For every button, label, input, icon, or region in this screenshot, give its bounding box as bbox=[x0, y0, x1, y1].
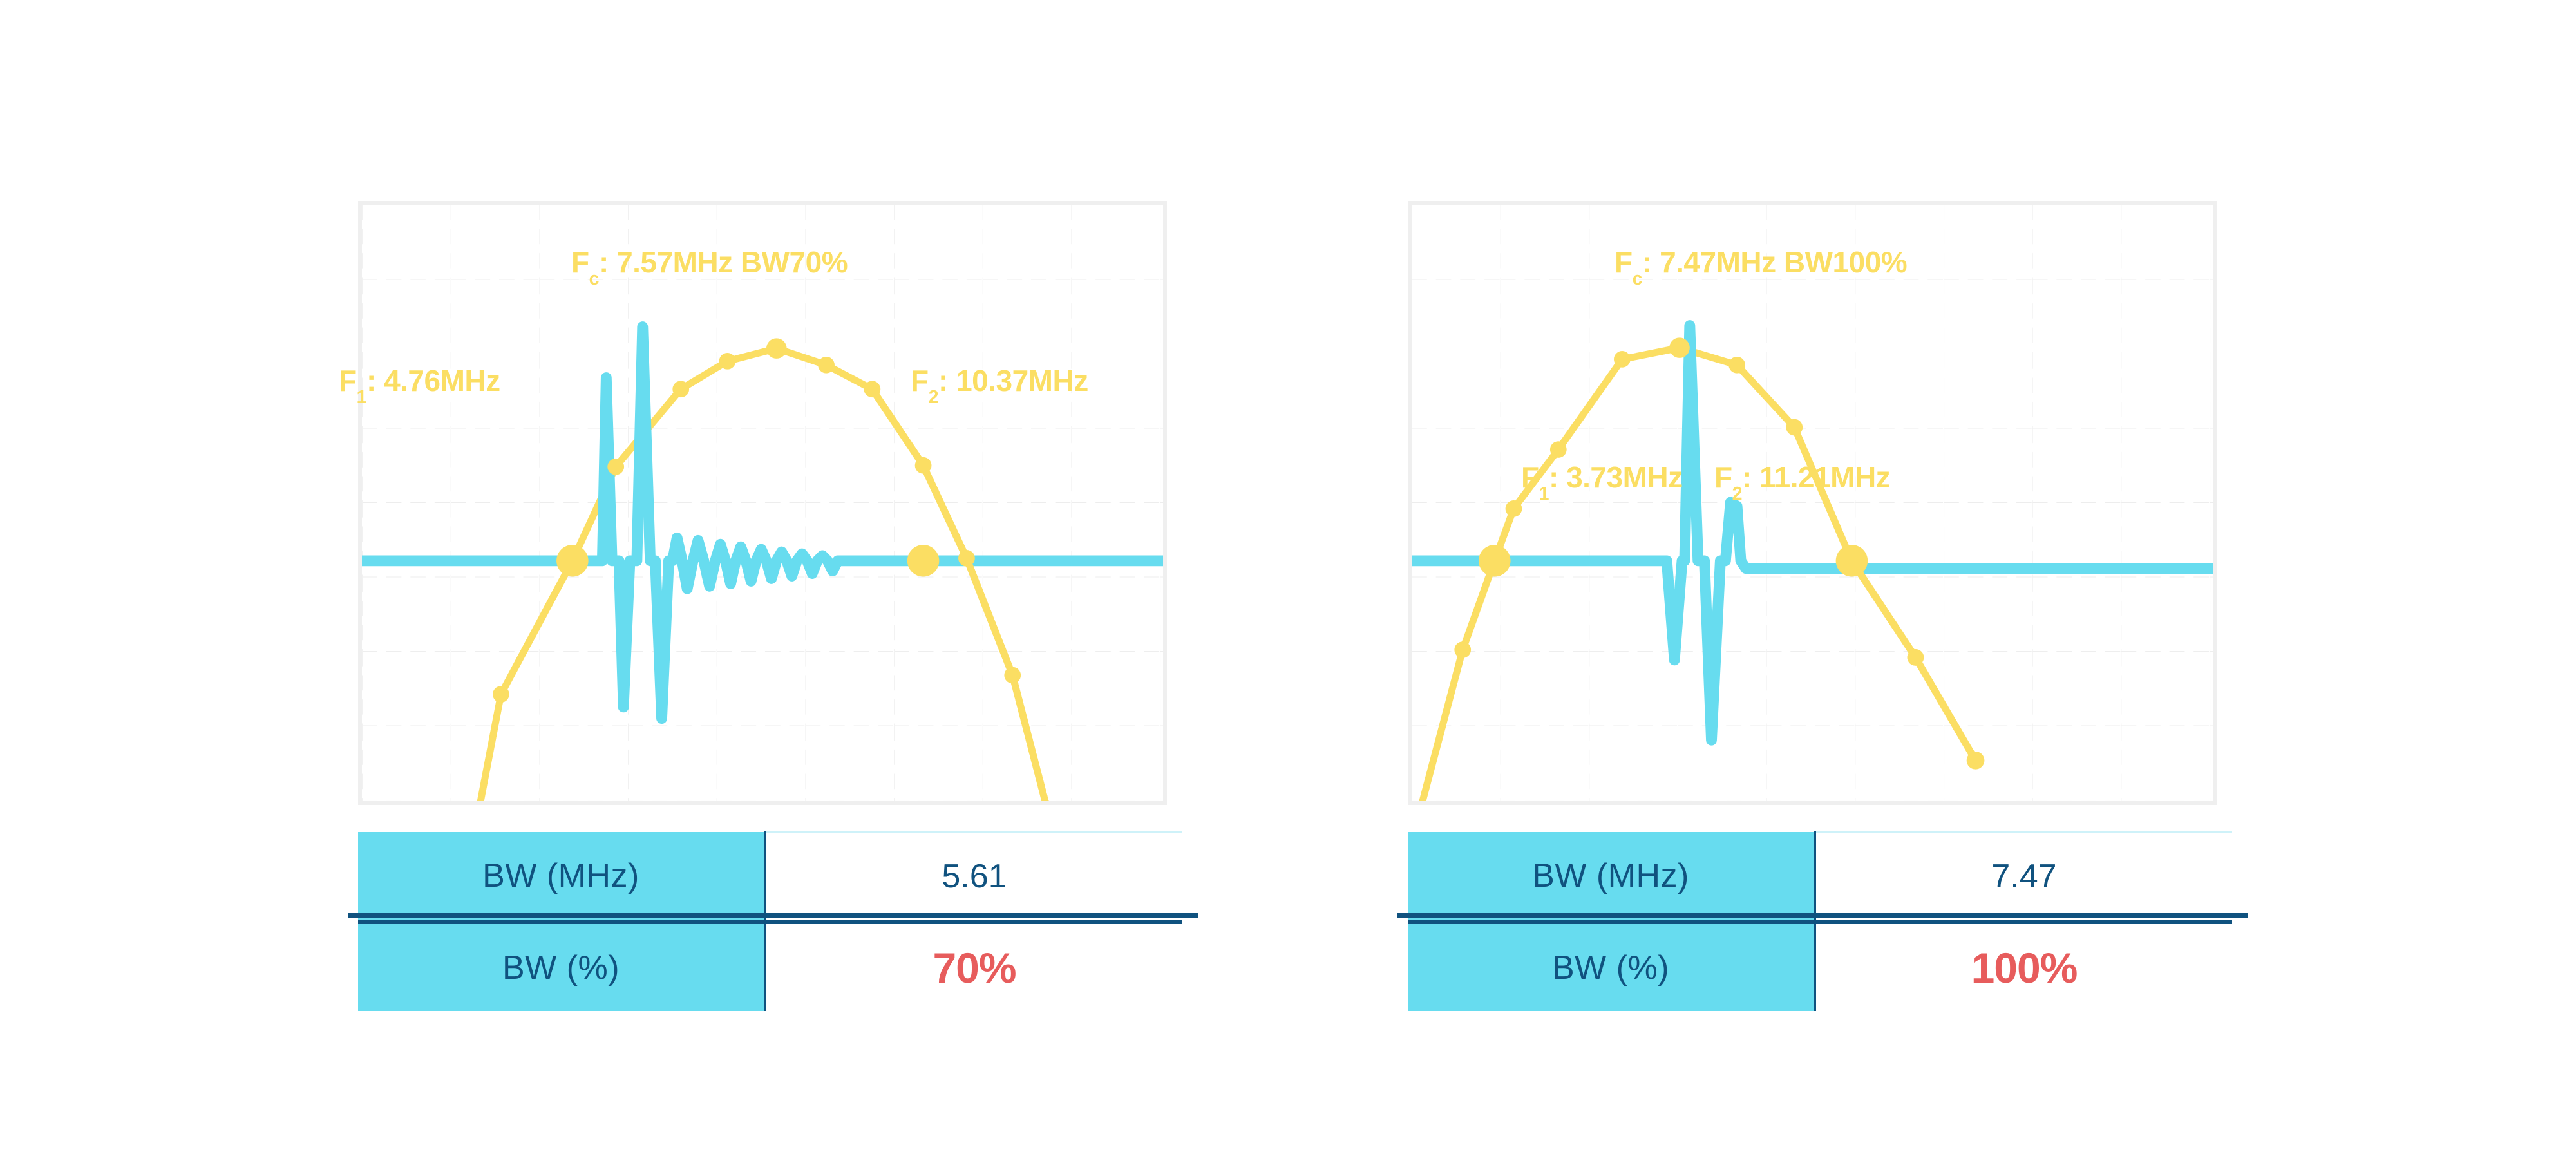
chart-svg-left bbox=[362, 205, 1163, 801]
data-point bbox=[1908, 649, 1924, 666]
chart-panel-left: Fc: 7.57MHz BW70% F1: 4.76MHz F2: 10.37M… bbox=[358, 201, 1167, 805]
row-value-bw-percent: 70% bbox=[765, 922, 1182, 1012]
row-value-bw-mhz: 5.61 bbox=[765, 832, 1182, 922]
marker-f1-right bbox=[1479, 545, 1511, 576]
data-point bbox=[1454, 641, 1471, 658]
data-point bbox=[1550, 441, 1567, 458]
label-f2-right: F2: 11.21MHz bbox=[1714, 462, 1890, 492]
row-header-bw-mhz: BW (MHz) bbox=[358, 832, 765, 922]
label-center-frequency-left: Fc: 7.57MHz BW70% bbox=[571, 247, 848, 277]
label-f1-right: F1: 3.73MHz bbox=[1521, 462, 1683, 492]
panel-group-left: Fc: 7.57MHz BW70% F1: 4.76MHz F2: 10.37M… bbox=[0, 0, 1288, 1154]
label-center-frequency-right: Fc: 7.47MHz BW100% bbox=[1615, 247, 1907, 277]
data-point bbox=[1614, 351, 1631, 368]
chart-panel-right: Fc: 7.47MHz BW100% F1: 3.73MHz F2: 11.21… bbox=[1408, 201, 2217, 805]
row-header-bw-percent: BW (%) bbox=[358, 922, 765, 1012]
row-value-bw-percent: 100% bbox=[1815, 922, 2232, 1012]
chart-gridlines-right bbox=[1412, 205, 2213, 801]
screenshot-root: Fc: 7.57MHz BW70% F1: 4.76MHz F2: 10.37M… bbox=[0, 0, 2576, 1154]
marker-f2-left bbox=[907, 545, 940, 576]
chart-gridlines-left bbox=[362, 205, 1163, 801]
data-point bbox=[607, 459, 624, 475]
marker-f1-left bbox=[556, 545, 589, 576]
data-point bbox=[719, 353, 736, 370]
data-point bbox=[915, 457, 932, 474]
data-point bbox=[493, 686, 509, 703]
label-f1-left: F1: 4.76MHz bbox=[339, 366, 500, 395]
data-point bbox=[672, 381, 689, 397]
row-value-bw-mhz: 7.47 bbox=[1815, 832, 2232, 922]
data-point bbox=[818, 357, 835, 374]
table-row: BW (%) 100% bbox=[1408, 922, 2232, 1012]
row-header-bw-percent: BW (%) bbox=[1408, 922, 1815, 1012]
panel-group-right: Fc: 7.47MHz BW100% F1: 3.73MHz F2: 11.21… bbox=[1288, 0, 2576, 1154]
table-row: BW (MHz) 7.47 bbox=[1408, 832, 2232, 922]
bandwidth-table-right: BW (MHz) 7.47 BW (%) 100% bbox=[1408, 831, 2232, 1011]
data-point bbox=[1786, 419, 1803, 436]
table-row: BW (%) 70% bbox=[358, 922, 1182, 1012]
label-f2-left: F2: 10.37MHz bbox=[911, 366, 1088, 395]
chart-svg-right bbox=[1412, 205, 2213, 801]
data-point bbox=[1506, 500, 1522, 517]
row-header-bw-mhz: BW (MHz) bbox=[1408, 832, 1815, 922]
bandwidth-table-left: BW (MHz) 5.61 BW (%) 70% bbox=[358, 831, 1182, 1011]
table-divider-left bbox=[348, 913, 1198, 918]
data-point-center bbox=[766, 338, 787, 359]
data-point-center bbox=[1669, 337, 1690, 358]
data-point bbox=[1728, 357, 1745, 374]
table-row: BW (MHz) 5.61 bbox=[358, 832, 1182, 922]
table-divider-right bbox=[1397, 913, 2248, 918]
